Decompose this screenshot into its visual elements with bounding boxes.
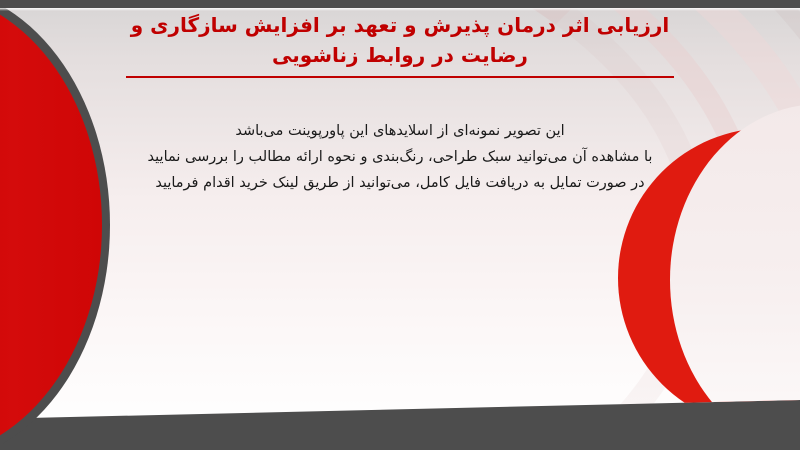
body-line-1: این تصویر نمونه‌ای از اسلایدهای این پاور… [110, 118, 690, 144]
body-line-2: با مشاهده آن می‌توانید سبک طراحی، رنگ‌بن… [110, 144, 690, 170]
title-line-1: ارزیابی اثر درمان پذیرش و تعهد بر افزایش… [0, 10, 800, 40]
slide-body-text: این تصویر نمونه‌ای از اسلایدهای این پاور… [110, 118, 690, 196]
presentation-slide: ارزیابی اثر درمان پذیرش و تعهد بر افزایش… [0, 0, 800, 450]
slide-title: ارزیابی اثر درمان پذیرش و تعهد بر افزایش… [0, 10, 800, 78]
body-line-3: در صورت تمایل به دریافت فایل کامل، می‌تو… [110, 170, 690, 196]
title-line-2: رضایت در روابط زناشویی [0, 40, 800, 70]
title-underline [126, 76, 674, 78]
